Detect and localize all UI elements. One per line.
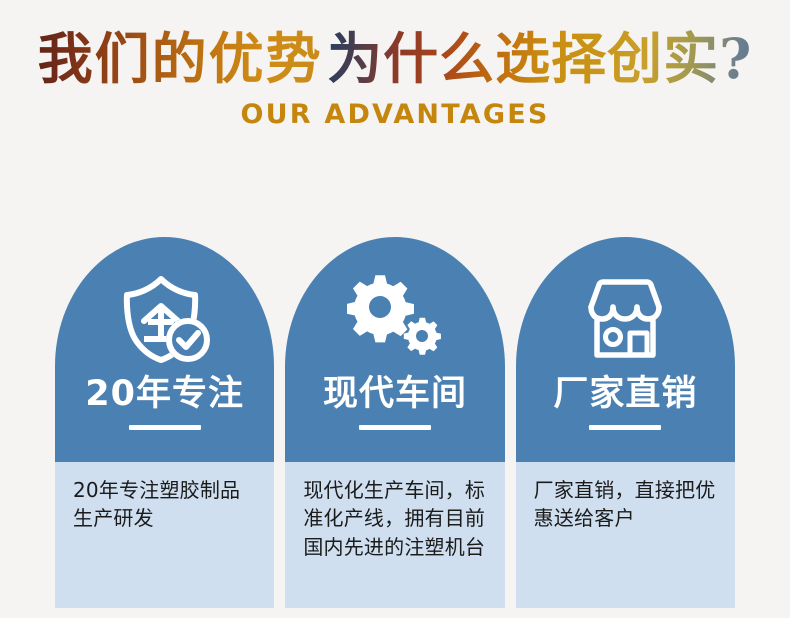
page-header: 我们的优势 为什么选择创实? OUR ADVANTAGES [0,0,790,130]
advantage-card[interactable]: 现代车间 现代化生产车间，标准化产线，拥有目前国内先进的注塑机台 [285,237,504,608]
card-title-underline [129,425,201,430]
card-description: 厂家直销，直接把优惠送给客户 [516,462,735,608]
page-title-line-2: 为什么选择创实? [327,28,752,90]
gears-icon [347,265,443,375]
shield-check-icon [117,265,213,375]
card-title: 现代车间 [323,377,467,412]
card-header-arch: 厂家直销 [516,237,735,462]
card-title-underline [359,425,431,430]
advantage-card[interactable]: 20年专注 20年专注塑胶制品生产研发 [55,237,274,608]
advantage-card[interactable]: 厂家直销 厂家直销，直接把优惠送给客户 [516,237,735,608]
card-title-underline [589,425,661,430]
storefront-icon [575,265,675,375]
card-header-arch: 现代车间 [285,237,504,462]
card-title: 厂家直销 [553,377,697,412]
page-subtitle: OUR ADVANTAGES [0,99,790,130]
advantage-card-list: 20年专注 20年专注塑胶制品生产研发 现代车间 [55,237,735,608]
page-title-line-1: 我们的优势 [38,29,323,88]
card-description: 20年专注塑胶制品生产研发 [55,462,274,608]
card-title: 20年专注 [85,377,244,412]
card-description: 现代化生产车间，标准化产线，拥有目前国内先进的注塑机台 [285,462,504,608]
card-header-arch: 20年专注 [55,237,274,462]
